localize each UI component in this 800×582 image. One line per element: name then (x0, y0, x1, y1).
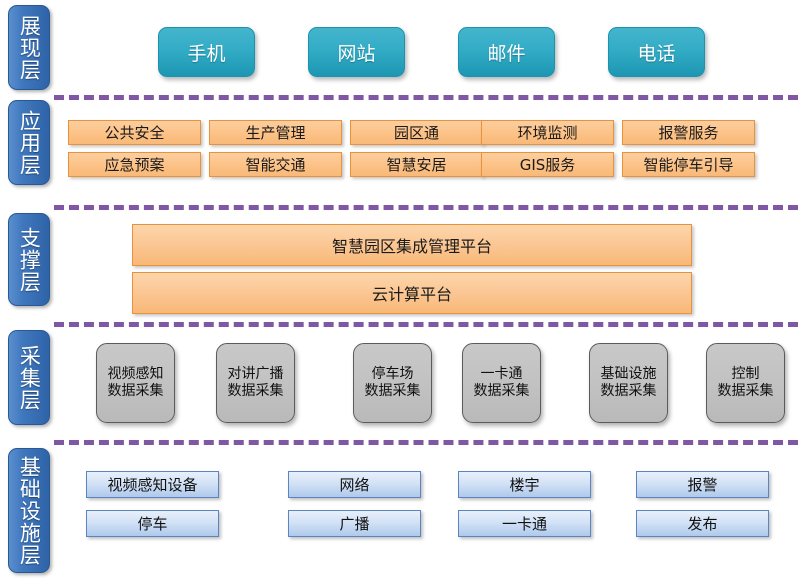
layer-tab-support[interactable]: 支撑层 (8, 213, 50, 306)
infrastructure-item-label: 报警 (687, 474, 717, 495)
application-item-emergency-plan[interactable]: 应急预案 (68, 152, 201, 177)
infrastructure-item-label: 楼宇 (509, 474, 539, 495)
infrastructure-item-parking[interactable]: 停车 (86, 510, 219, 537)
divider-collection-infrastructure (54, 440, 798, 445)
layer-tab-application[interactable]: 应用层 (8, 100, 50, 185)
collection-item-line1: 基础设施 (601, 366, 657, 384)
collection-item-line2: 数据采集 (365, 383, 421, 401)
presentation-item-label: 手机 (187, 39, 225, 66)
infrastructure-item-label: 网络 (339, 474, 369, 495)
infrastructure-item-video-sensing-device[interactable]: 视频感知设备 (86, 471, 219, 498)
application-item-label: 应急预案 (104, 154, 164, 175)
application-item-label: 园区通 (394, 122, 439, 143)
collection-item-line2: 数据采集 (228, 383, 284, 401)
presentation-item-email[interactable]: 邮件 (458, 27, 555, 77)
infrastructure-item-publishing[interactable]: 发布 (636, 510, 769, 537)
collection-item-line1: 一卡通 (474, 366, 530, 384)
collection-item-line2: 数据采集 (474, 383, 530, 401)
collection-item-line1: 控制 (718, 366, 774, 384)
presentation-item-website[interactable]: 网站 (308, 27, 405, 77)
application-item-smart-parking-guidance[interactable]: 智能停车引导 (622, 152, 755, 177)
infrastructure-item-alarm[interactable]: 报警 (636, 471, 769, 498)
infrastructure-item-label: 停车 (137, 513, 167, 534)
application-item-alarm-service[interactable]: 报警服务 (622, 120, 755, 145)
infrastructure-item-label: 发布 (687, 513, 717, 534)
collection-item-control[interactable]: 控制 数据采集 (706, 343, 785, 423)
support-bar-integrated-management-platform[interactable]: 智慧园区集成管理平台 (132, 224, 692, 266)
layer-tab-label: 采集层 (18, 345, 41, 411)
application-item-environment-monitoring[interactable]: 环境监测 (481, 120, 614, 145)
application-item-production-management[interactable]: 生产管理 (209, 120, 342, 145)
collection-item-line1: 停车场 (365, 366, 421, 384)
layer-tab-label: 应用层 (18, 110, 41, 176)
presentation-item-label: 电话 (637, 39, 675, 66)
divider-presentation-application (54, 95, 798, 100)
application-item-label: 公共安全 (104, 122, 164, 143)
infrastructure-item-label: 广播 (339, 513, 369, 534)
application-item-label: 智能停车引导 (643, 154, 733, 175)
presentation-item-phone[interactable]: 电话 (608, 27, 705, 77)
application-item-label: 报警服务 (658, 122, 718, 143)
support-bar-label: 云计算平台 (372, 281, 452, 305)
layer-tab-infrastructure[interactable]: 基础设施层 (8, 448, 50, 573)
collection-item-line1: 视频感知 (108, 366, 164, 384)
collection-item-line2: 数据采集 (718, 383, 774, 401)
collection-item-intercom-broadcast[interactable]: 对讲广播 数据采集 (216, 343, 295, 423)
application-item-public-safety[interactable]: 公共安全 (68, 120, 201, 145)
layer-tab-presentation[interactable]: 展现层 (8, 5, 50, 90)
collection-item-infrastructure[interactable]: 基础设施 数据采集 (589, 343, 668, 423)
collection-item-line2: 数据采集 (108, 383, 164, 401)
divider-application-support (54, 205, 798, 210)
application-item-label: 生产管理 (245, 122, 305, 143)
infrastructure-item-label: 视频感知设备 (107, 474, 197, 495)
infrastructure-item-broadcast[interactable]: 广播 (288, 510, 421, 537)
layer-tab-collection[interactable]: 采集层 (8, 330, 50, 425)
architecture-diagram: 展现层 应用层 支撑层 采集层 基础设施层 手机 网站 邮件 电话 公共安全 生… (0, 0, 800, 582)
layer-tab-label: 基础设施层 (18, 456, 41, 566)
layer-tab-label: 展现层 (18, 15, 41, 81)
infrastructure-item-label: 一卡通 (502, 513, 547, 534)
infrastructure-item-network[interactable]: 网络 (288, 471, 421, 498)
divider-support-collection (54, 322, 798, 327)
application-item-smart-living[interactable]: 智慧安居 (350, 152, 483, 177)
collection-item-video-sensing[interactable]: 视频感知 数据采集 (96, 343, 175, 423)
presentation-item-label: 网站 (337, 39, 375, 66)
support-bar-cloud-computing-platform[interactable]: 云计算平台 (132, 272, 692, 314)
application-item-gis-service[interactable]: GIS服务 (481, 152, 614, 177)
infrastructure-item-building[interactable]: 楼宇 (458, 471, 591, 498)
application-item-smart-traffic[interactable]: 智能交通 (209, 152, 342, 177)
collection-item-line1: 对讲广播 (228, 366, 284, 384)
collection-item-parking-lot[interactable]: 停车场 数据采集 (353, 343, 432, 423)
application-item-label: GIS服务 (520, 154, 576, 175)
support-bar-label: 智慧园区集成管理平台 (332, 233, 492, 257)
application-item-label: 环境监测 (517, 122, 577, 143)
collection-item-line2: 数据采集 (601, 383, 657, 401)
application-item-park-pass[interactable]: 园区通 (350, 120, 483, 145)
presentation-item-label: 邮件 (487, 39, 525, 66)
infrastructure-item-one-card[interactable]: 一卡通 (458, 510, 591, 537)
application-item-label: 智慧安居 (386, 154, 446, 175)
application-item-label: 智能交通 (245, 154, 305, 175)
collection-item-one-card[interactable]: 一卡通 数据采集 (462, 343, 541, 423)
presentation-item-mobile[interactable]: 手机 (158, 27, 255, 77)
layer-tab-label: 支撑层 (18, 227, 41, 293)
